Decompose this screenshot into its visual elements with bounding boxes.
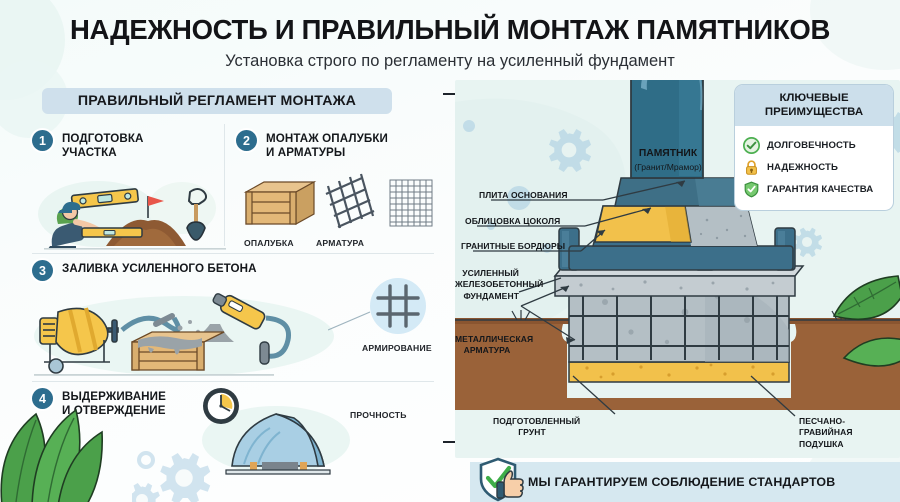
label-base-slab: ПЛИТА ОСНОВАНИЯ <box>479 190 568 201</box>
shield-check-icon <box>743 181 760 198</box>
left-panel-header-label: ПРАВИЛЬНЫЙ РЕГЛАМЕНТ МОНТАЖА <box>78 93 356 109</box>
step-2-title: МОНТАЖ ОПАЛУБКИ И АРМАТУРЫ <box>266 130 388 161</box>
monument-material: (Гранит/Мрамор) <box>621 162 715 172</box>
key-benefit-item-reliability: НАДЕЖНОСТЬ <box>743 159 885 176</box>
step-3-number: 3 <box>32 260 53 281</box>
label-sand-gravel-l1: ПЕСЧАНО-ГРАВИЙНАЯ <box>799 416 853 437</box>
step-2-title-line2: И АРМАТУРЫ <box>266 146 345 159</box>
infographic-page: НАДЕЖНОСТЬ И ПРАВИЛЬНЫЙ МОНТАЖ ПАМЯТНИКО… <box>0 0 900 502</box>
key-benefits-title: КЛЮЧЕВЫЕ ПРЕИМУЩЕСТВА <box>735 85 893 126</box>
label-reinforced-foundation-l2: ЖЕЛЕЗОБЕТОННЫЙ <box>455 279 543 289</box>
step-1-title-line1: ПОДГОТОВКА <box>62 132 144 145</box>
label-granite-curbs: ГРАНИТНЫЕ БОРДЮРЫ <box>461 241 565 252</box>
right-panel: ПАМЯТНИК (Гранит/Мрамор) ПЛИТА ОСНОВАНИЯ… <box>455 80 900 458</box>
label-metal-rebar: МЕТАЛЛИЧЕСКАЯ АРМАТУРА <box>455 334 519 357</box>
shield-check-thumbsup-icon <box>478 456 532 502</box>
step-1-head: 1 ПОДГОТОВКА УЧАСТКА <box>32 130 220 161</box>
step-3-caption-reinforcement: АРМИРОВАНИЕ <box>362 343 432 353</box>
leaf-decor-right <box>826 270 900 380</box>
label-prepared-soil-l2: ГРУНТ <box>518 427 546 437</box>
step-2: 2 МОНТАЖ ОПАЛУБКИ И АРМАТУРЫ <box>236 130 436 161</box>
step-2-number: 2 <box>236 130 257 151</box>
step-3-illustration <box>34 284 344 378</box>
step-2-caption-rebar: АРМАТУРА <box>316 238 364 248</box>
label-sand-gravel-cushion: ПЕСЧАНО-ГРАВИЙНАЯ ПОДУШКА <box>799 416 897 450</box>
step-2-title-line1: МОНТАЖ ОПАЛУБКИ <box>266 132 388 145</box>
step-3-rebar-callout-icon <box>366 274 430 338</box>
step-2-illustration <box>240 172 436 234</box>
check-circle-icon <box>743 137 760 154</box>
leaf-decor-left <box>0 376 142 502</box>
step-3-head: 3 ЗАЛИВКА УСИЛЕННОГО БЕТОНА <box>32 260 362 281</box>
label-plinth-facing: ОБЛИЦОВКА ЦОКОЛЯ <box>465 216 560 227</box>
label-prepared-soil: ПОДГОТОВЛЕННЫЙ ГРУНТ <box>493 416 571 439</box>
step-1-title-line2: УЧАСТКА <box>62 146 117 159</box>
divider <box>32 253 434 254</box>
key-benefits-box: КЛЮЧЕВЫЕ ПРЕИМУЩЕСТВА ДОЛГОВЕЧНОСТЬ <box>734 84 894 211</box>
label-reinforced-foundation-l1: УСИЛЕННЫЙ <box>462 268 519 278</box>
monument-title: ПАМЯТНИК <box>631 148 705 159</box>
label-reinforced-foundation: УСИЛЕННЫЙ ЖЕЛЕЗОБЕТОННЫЙ ФУНДАМЕНТ <box>455 268 519 302</box>
label-prepared-soil-l1: ПОДГОТОВЛЕННЫЙ <box>493 416 580 426</box>
step-1-title: ПОДГОТОВКА УЧАСТКА <box>62 130 144 161</box>
footer-banner: МЫ ГАРАНТИРУЕМ СОБЛЮДЕНИЕ СТАНДАРТОВ <box>470 462 900 502</box>
left-panel-header: ПРАВИЛЬНЫЙ РЕГЛАМЕНТ МОНТАЖА <box>42 88 392 114</box>
label-reinforced-foundation-l3: ФУНДАМЕНТ <box>463 291 519 301</box>
label-metal-rebar-l2: АРМАТУРА <box>464 345 511 355</box>
step-3: 3 ЗАЛИВКА УСИЛЕННОГО БЕТОНА <box>32 260 362 281</box>
page-title: НАДЕЖНОСТЬ И ПРАВИЛЬНЫЙ МОНТАЖ ПАМЯТНИКО… <box>0 14 900 46</box>
page-subtitle: Установка строго по регламенту на усилен… <box>0 52 900 71</box>
key-benefits-title-l2: ПРЕИМУЩЕСТВА <box>765 106 863 118</box>
key-benefit-label-quality-guarantee: ГАРАНТИЯ КАЧЕСТВА <box>767 184 873 195</box>
gear-decor-bottom-left <box>132 434 272 502</box>
label-metal-rebar-l1: МЕТАЛЛИЧЕСКАЯ <box>455 334 533 344</box>
label-sand-gravel-l2: ПОДУШКА <box>799 439 844 449</box>
step-1: 1 ПОДГОТОВКА УЧАСТКА <box>32 130 220 161</box>
key-benefit-label-reliability: НАДЕЖНОСТЬ <box>767 162 838 173</box>
step-3-title: ЗАЛИВКА УСИЛЕННОГО БЕТОНА <box>62 260 257 276</box>
key-benefit-item-quality-guarantee: ГАРАНТИЯ КАЧЕСТВА <box>743 181 885 198</box>
step-2-caption-formwork: ОПАЛУБКА <box>244 238 294 248</box>
footer-text: МЫ ГАРАНТИРУЕМ СОБЛЮДЕНИЕ СТАНДАРТОВ <box>528 475 835 489</box>
key-benefit-item-durability: ДОЛГОВЕЧНОСТЬ <box>743 137 885 154</box>
step-3-callout-line <box>328 308 372 332</box>
key-benefits-list: ДОЛГОВЕЧНОСТЬ НАДЕЖНОСТЬ <box>735 126 893 210</box>
step-1-number: 1 <box>32 130 53 151</box>
step-1-illustration <box>36 174 226 252</box>
lock-icon <box>743 159 760 176</box>
step-4-caption-strength: ПРОЧНОСТЬ <box>350 410 407 420</box>
step-2-head: 2 МОНТАЖ ОПАЛУБКИ И АРМАТУРЫ <box>236 130 436 161</box>
key-benefit-label-durability: ДОЛГОВЕЧНОСТЬ <box>767 140 856 151</box>
key-benefits-title-l1: КЛЮЧЕВЫЕ <box>779 92 848 104</box>
